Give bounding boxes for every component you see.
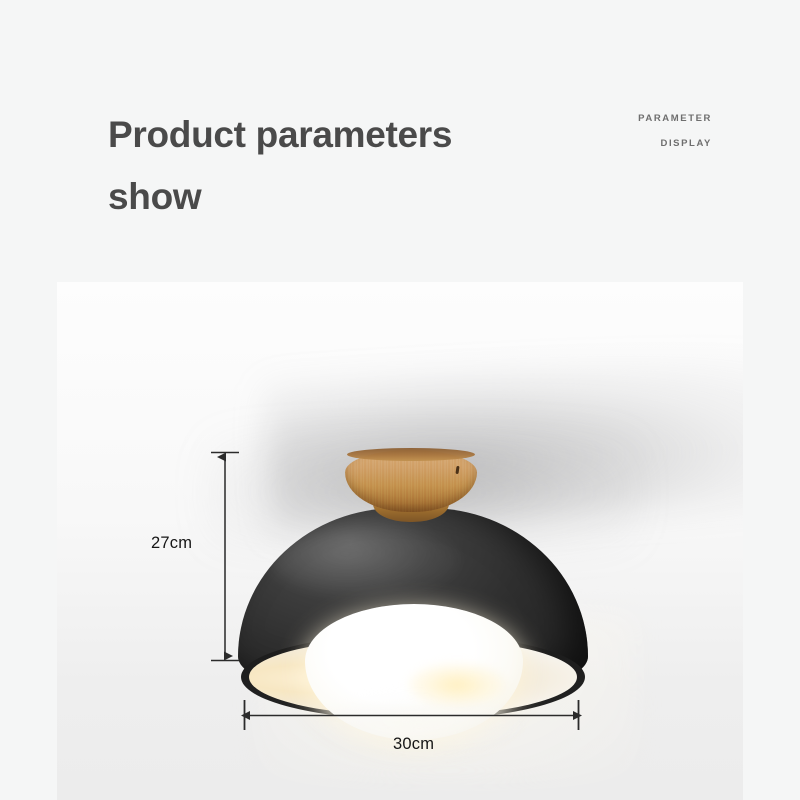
- dome-highlight: [269, 526, 459, 596]
- lamp-canopy-ceiling-lip: [347, 448, 475, 461]
- height-dimension-label: 27cm: [151, 534, 192, 553]
- page-header: Product parameters show PARAMETER DISPLA…: [0, 0, 800, 282]
- eyebrow-caption: PARAMETER DISPLAY: [638, 106, 712, 156]
- eyebrow-line-parameter: PARAMETER: [638, 106, 712, 131]
- eyebrow-line-display: DISPLAY: [638, 131, 712, 156]
- page-title: Product parameters show: [108, 104, 538, 228]
- lamp-bulb-glow: [409, 664, 505, 706]
- width-dimension-label: 30cm: [393, 735, 434, 754]
